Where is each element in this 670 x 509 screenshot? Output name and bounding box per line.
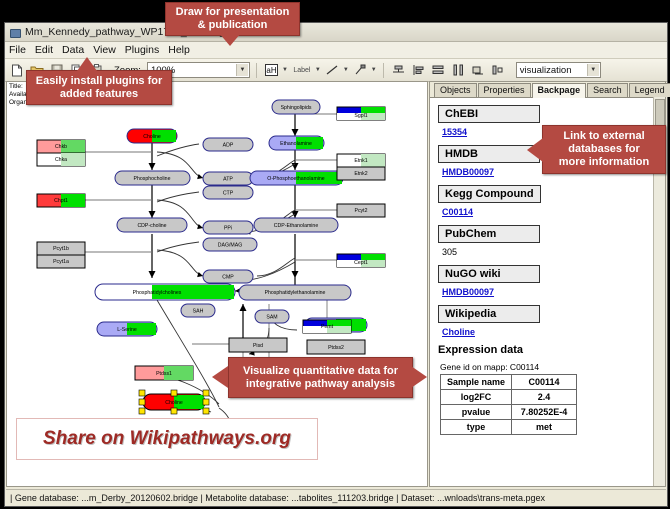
table-row: pvalue 7.80252E-4: [441, 405, 577, 420]
callout-draw-pointer: [219, 33, 241, 46]
node-pemt[interactable]: Pemt: [303, 320, 351, 333]
svg-text:Pemt: Pemt: [321, 324, 334, 330]
svg-text:L-Serine: L-Serine: [117, 327, 137, 333]
node-cdp-choline[interactable]: CDP-choline: [117, 218, 187, 232]
svg-text:ADP: ADP: [223, 142, 234, 148]
svg-text:Cept1: Cept1: [354, 260, 368, 266]
svg-text:Pcyt2: Pcyt2: [355, 208, 368, 214]
arrow-shape-icon[interactable]: [352, 62, 369, 79]
row-value: 7.80252E-4: [512, 405, 577, 420]
callout-plugins-line1: Easily install plugins for: [36, 75, 163, 88]
order-icon[interactable]: [490, 62, 507, 79]
align-left-icon[interactable]: [410, 62, 427, 79]
svg-text:Etnk2: Etnk2: [354, 171, 367, 177]
kegg-header: Kegg Compound: [438, 185, 541, 203]
svg-text:Pcyt1b: Pcyt1b: [53, 246, 69, 252]
svg-text:O-Phosphoethanolamine: O-Phosphoethanolamine: [267, 176, 325, 182]
node-pcyt2[interactable]: Pcyt2: [337, 204, 385, 217]
node-o-phosphoethanolamine[interactable]: O-Phosphoethanolamine: [250, 171, 343, 185]
screenshot-root: Mm_Kennedy_pathway_WP1771_45176.gpml Fil…: [0, 0, 670, 509]
node-ptdss1[interactable]: Ptdss1: [135, 366, 193, 380]
menu-item-file[interactable]: File: [9, 44, 26, 56]
side-panel-tabs: Objects Properties Backpage Search Legen…: [430, 82, 665, 98]
node-ethanolamine-top[interactable]: Ethanolamine: [269, 136, 324, 150]
callout-links-line1: Link to external: [563, 130, 644, 143]
svg-text:Pisd: Pisd: [253, 343, 263, 349]
nugo-header: NuGO wiki: [438, 265, 540, 283]
callout-plugins-line2: added features: [60, 88, 138, 101]
table-row: log2FC 2.4: [441, 390, 577, 405]
svg-text:Ptdss2: Ptdss2: [328, 345, 344, 351]
hmdb-header: HMDB: [438, 145, 540, 163]
node-sphingolipids[interactable]: Sphingolipids: [272, 100, 320, 114]
node-phosphatidylcholines[interactable]: Phosphatidylcholines: [95, 284, 235, 300]
distribute-horizontal-icon[interactable]: [450, 62, 467, 79]
share-banner: Share on Wikipathways.org: [16, 418, 318, 460]
node-l-serine-left[interactable]: L-Serine: [97, 322, 157, 336]
node-ptdss2[interactable]: Ptdss2: [307, 340, 365, 354]
expression-data-heading: Expression data: [438, 344, 665, 356]
wikipedia-header: Wikipedia: [438, 305, 540, 323]
menu-item-edit[interactable]: Edit: [35, 44, 53, 56]
group-icon[interactable]: [470, 62, 487, 79]
svg-text:ATP: ATP: [223, 176, 233, 182]
table-row: Sample name C00114: [441, 375, 577, 390]
window-titlebar: Mm_Kennedy_pathway_WP1771_45176.gpml: [5, 23, 667, 42]
callout-visualize-line1: Visualize quantitative data for: [243, 365, 398, 378]
callout-links-pointer: [527, 138, 543, 162]
tab-search[interactable]: Search: [587, 83, 628, 97]
svg-text:PPi: PPi: [224, 225, 232, 231]
callout-visualize-line2: integrative pathway analysis: [246, 378, 395, 391]
node-sah[interactable]: SAH: [181, 304, 215, 317]
svg-text:Chka: Chka: [55, 157, 67, 163]
chevron-down-icon[interactable]: ▼: [315, 67, 321, 73]
svg-text:Chkb: Chkb: [55, 144, 67, 150]
chevron-down-icon[interactable]: ▼: [371, 67, 377, 73]
svg-text:CDP-choline: CDP-choline: [137, 223, 166, 229]
node-ppi[interactable]: PPi: [203, 221, 253, 234]
node-phosphatidylethanolamine[interactable]: Phosphatidylethanolamine: [239, 285, 351, 300]
menu-item-help[interactable]: Help: [168, 44, 190, 56]
statusbar-text: | Gene database: ...m_Derby_20120602.bri…: [6, 493, 545, 503]
kegg-link[interactable]: C00114: [442, 207, 665, 217]
svg-text:Sphingolipids: Sphingolipids: [281, 105, 312, 111]
svg-text:aH: aH: [266, 66, 276, 75]
statusbar: | Gene database: ...m_Derby_20120602.bri…: [6, 489, 666, 505]
callout-draw-line1: Draw for presentation: [176, 6, 290, 19]
svg-text:Sgpl1: Sgpl1: [354, 113, 367, 119]
node-cmp[interactable]: CMP: [203, 270, 253, 283]
svg-text:Chpt1: Chpt1: [54, 198, 68, 204]
svg-text:SAH: SAH: [193, 308, 204, 314]
menu-item-data[interactable]: Data: [62, 44, 84, 56]
callout-plugins-pointer: [77, 57, 97, 71]
callout-links: Link to external databases for more info…: [542, 125, 666, 174]
pubchem-header: PubChem: [438, 225, 540, 243]
label-button[interactable]: Label: [291, 62, 313, 79]
callout-draw: Draw for presentation & publication: [165, 2, 300, 36]
node-pcyt1a[interactable]: Pcyt1a: [37, 255, 85, 268]
table-row: type met: [441, 420, 577, 435]
chebi-header: ChEBI: [438, 105, 540, 123]
callout-draw-line2: & publication: [198, 19, 268, 32]
row-key: type: [441, 420, 512, 435]
svg-text:Phosphatidylethanolamine: Phosphatidylethanolamine: [265, 290, 326, 296]
node-sam[interactable]: SAM: [255, 310, 289, 323]
node-chka[interactable]: Chka: [37, 153, 85, 166]
svg-text:Ptdss1: Ptdss1: [156, 371, 172, 377]
toolbar-separator: [256, 63, 257, 78]
node-etnk2[interactable]: Etnk2: [337, 167, 385, 180]
svg-text:Choline: Choline: [143, 134, 161, 140]
node-sgpl1[interactable]: Sgpl1: [337, 107, 385, 120]
node-ctp[interactable]: CTP: [203, 186, 253, 199]
node-atp[interactable]: ATP: [203, 172, 253, 185]
menubar: File Edit Data View Plugins Help: [5, 42, 667, 59]
svg-text:Ethanolamine: Ethanolamine: [280, 141, 312, 147]
node-chpt1[interactable]: Chpt1: [37, 194, 85, 207]
node-dag-mag[interactable]: DAG/MAG: [203, 238, 257, 251]
svg-text:Etnk1: Etnk1: [354, 158, 367, 164]
row-value: 2.4: [512, 390, 577, 405]
svg-text:CDP-Ethanolamine: CDP-Ethanolamine: [274, 223, 319, 229]
callout-links-line2: databases for: [568, 143, 640, 156]
chevron-down-icon[interactable]: ▼: [587, 64, 599, 76]
svg-text:DAG/MAG: DAG/MAG: [218, 242, 243, 248]
callout-visualize-pointer-left: [212, 366, 228, 388]
chevron-down-icon[interactable]: ▼: [236, 64, 248, 76]
new-file-icon[interactable]: [8, 62, 25, 79]
chevron-down-icon[interactable]: ▼: [282, 67, 288, 73]
tab-backpage[interactable]: Backpage: [532, 83, 587, 98]
callout-plugins: Easily install plugins for added feature…: [26, 70, 172, 105]
chevron-down-icon[interactable]: ▼: [343, 67, 349, 73]
visualization-value: visualization: [520, 65, 572, 76]
wikipedia-link[interactable]: Choline: [442, 327, 665, 337]
toolbar-separator: [383, 63, 384, 78]
node-etnk1[interactable]: Etnk1: [337, 154, 385, 167]
share-banner-text: Share on Wikipathways.org: [43, 428, 291, 450]
app-icon: [9, 27, 21, 38]
row-value: met: [512, 420, 577, 435]
node-choline-top[interactable]: Choline: [127, 129, 177, 143]
visualization-combobox[interactable]: visualization ▼: [516, 62, 601, 78]
row-key: pvalue: [441, 405, 512, 420]
distribute-vertical-icon[interactable]: [430, 62, 447, 79]
callout-visualize: Visualize quantitative data for integrat…: [228, 357, 413, 398]
menu-item-view[interactable]: View: [93, 44, 116, 56]
node-cept1[interactable]: Cept1: [337, 254, 385, 267]
svg-text:Phosphatidylcholines: Phosphatidylcholines: [133, 290, 182, 296]
line-icon[interactable]: [324, 62, 341, 79]
node-pcyt1b[interactable]: Pcyt1b: [37, 242, 85, 255]
tab-objects[interactable]: Objects: [434, 83, 477, 97]
row-value: C00114: [512, 375, 577, 390]
callout-visualize-pointer-right: [411, 366, 427, 388]
align-center-icon[interactable]: [390, 62, 407, 79]
node-chkb[interactable]: Chkb: [37, 140, 85, 153]
tab-properties[interactable]: Properties: [478, 83, 531, 97]
nugo-link[interactable]: HMDB00097: [442, 287, 665, 297]
menu-item-plugins[interactable]: Plugins: [125, 44, 159, 56]
callout-links-line3: more information: [559, 156, 649, 169]
svg-text:CMP: CMP: [222, 274, 234, 280]
text-label-icon[interactable]: aH: [263, 62, 280, 79]
pubchem-value: 305: [442, 247, 665, 257]
svg-text:Pcyt1a: Pcyt1a: [53, 259, 69, 265]
node-adp[interactable]: ADP: [203, 138, 253, 151]
svg-text:Choline: Choline: [165, 400, 183, 406]
node-choline-selected[interactable]: Choline: [139, 390, 209, 414]
svg-text:Phosphocholine: Phosphocholine: [134, 176, 171, 182]
svg-text:CTP: CTP: [223, 190, 234, 196]
svg-text:SAM: SAM: [266, 314, 277, 320]
node-phosphocholine[interactable]: Phosphocholine: [115, 171, 190, 185]
tab-legend[interactable]: Legend: [629, 83, 670, 97]
row-key: log2FC: [441, 390, 512, 405]
expression-table: Sample name C00114 log2FC 2.4 pvalue 7.8…: [440, 374, 577, 435]
gene-id-line: Gene id on mapp: C00114: [440, 362, 665, 372]
node-pisd[interactable]: Pisd: [229, 338, 287, 352]
node-cdp-ethanolamine[interactable]: CDP-Ethanolamine: [254, 218, 338, 232]
row-key: Sample name: [441, 375, 512, 390]
